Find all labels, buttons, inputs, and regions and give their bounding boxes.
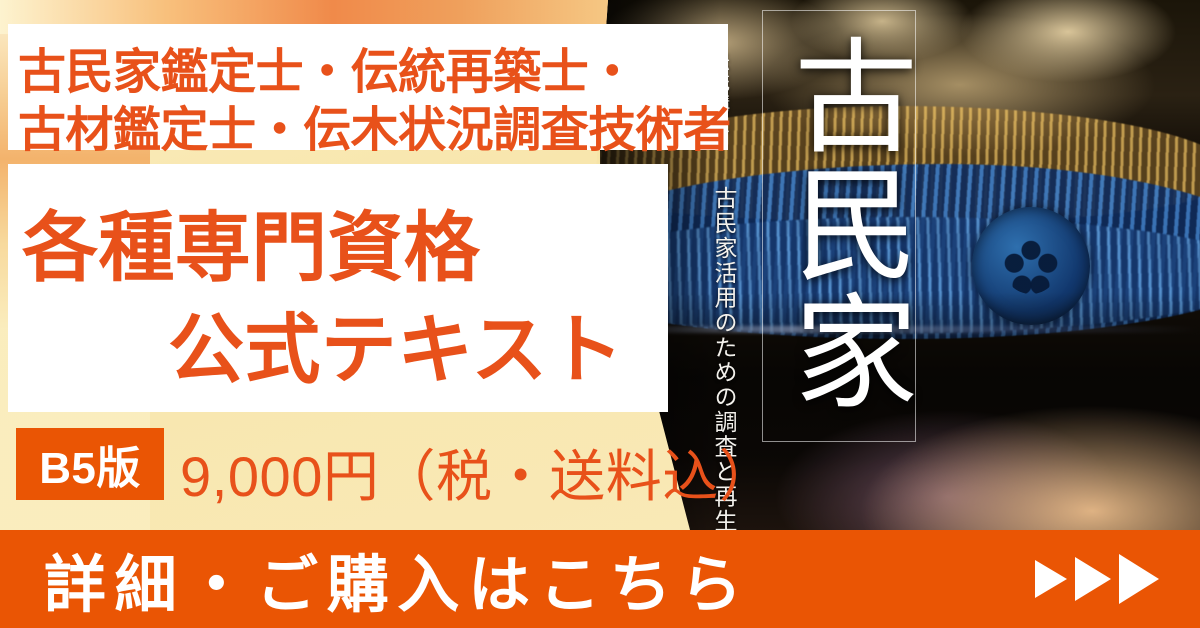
- play-arrow-icon: [1119, 554, 1159, 604]
- subhead-line-1: 各種専門資格: [22, 186, 480, 296]
- cta-bar[interactable]: 詳細・ご購入はこちら: [0, 530, 1200, 628]
- format-badge: B5版: [16, 428, 164, 500]
- cover-title: 古民家: [766, 12, 912, 436]
- cta-label: 詳細・ご購入はこちら: [44, 534, 751, 624]
- subhead-line-2: 公式テキスト: [168, 288, 624, 398]
- headline-line-2: 古材鑑定士・伝木状況調査技術者: [18, 90, 731, 160]
- promo-banner: 古民家 伝統構法 古民家活用のための調査と再生の 古民家鑑定士・伝統再築士・ 古…: [0, 0, 1200, 628]
- play-arrow-icon: [1075, 557, 1111, 601]
- play-arrow-icon: [1035, 560, 1067, 598]
- cta-arrows: [1035, 554, 1159, 604]
- price-text: 9,000円（税・送料込）: [180, 432, 775, 513]
